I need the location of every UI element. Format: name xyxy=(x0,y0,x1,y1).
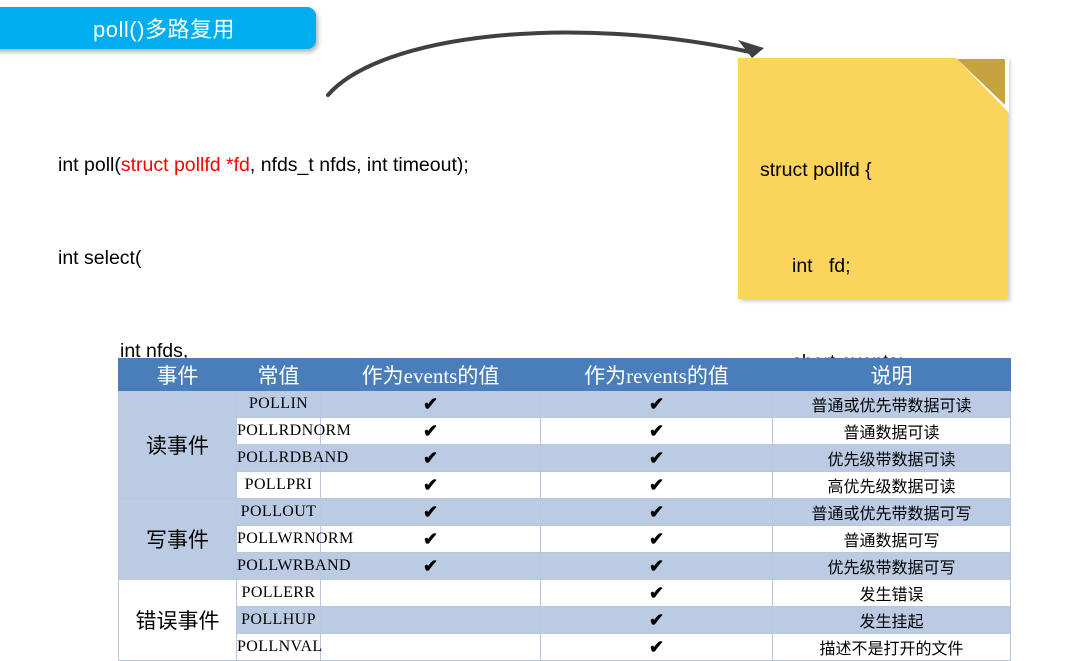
column-header-revents-value: 作为revents的值 xyxy=(541,359,773,391)
constant-cell: POLLNVAL xyxy=(237,634,321,661)
constant-cell: POLLRDBAND xyxy=(237,445,321,472)
constant-cell: POLLWRBAND xyxy=(237,553,321,580)
table-header-row: 事件 常值 作为events的值 作为revents的值 说明 xyxy=(119,359,1011,391)
revents-check-cell: ✔ xyxy=(541,445,773,472)
code-seg: int poll( xyxy=(58,154,121,176)
check-icon: ✔ xyxy=(649,610,664,630)
revents-check-cell: ✔ xyxy=(541,391,773,418)
table-row: POLLPRI ✔ ✔ 高优先级数据可读 xyxy=(119,472,1011,499)
revents-check-cell: ✔ xyxy=(541,499,773,526)
poll-events-table: 事件 常值 作为events的值 作为revents的值 说明 读事件 POLL… xyxy=(118,358,1011,661)
events-check-cell: ✔ xyxy=(321,553,541,580)
constant-cell: POLLOUT xyxy=(237,499,321,526)
check-icon: ✔ xyxy=(423,448,438,468)
folded-corner-icon xyxy=(949,57,1009,113)
page-title: poll()多路复用 xyxy=(67,12,235,44)
description-cell: 描述不是打开的文件 xyxy=(773,634,1011,661)
table-row: 错误事件 POLLERR ✔ 发生错误 xyxy=(119,580,1011,607)
events-check-cell: ✔ xyxy=(321,472,541,499)
table-row: 读事件 POLLIN ✔ ✔ 普通或优先带数据可读 xyxy=(119,391,1011,418)
check-icon: ✔ xyxy=(649,421,664,441)
revents-check-cell: ✔ xyxy=(541,526,773,553)
check-icon: ✔ xyxy=(423,529,438,549)
column-header-constant: 常值 xyxy=(237,359,321,391)
check-icon: ✔ xyxy=(649,556,664,576)
note-line-1: int fd; xyxy=(760,250,910,282)
category-cell-error: 错误事件 xyxy=(119,580,237,661)
check-icon: ✔ xyxy=(649,394,664,414)
table-row: POLLRDBAND ✔ ✔ 优先级带数据可读 xyxy=(119,445,1011,472)
events-check-cell: ✔ xyxy=(321,499,541,526)
slide-title-banner: poll()多路复用 xyxy=(0,7,316,49)
table-row: POLLHUP ✔ 发生挂起 xyxy=(119,607,1011,634)
check-icon: ✔ xyxy=(649,502,664,522)
description-cell: 普通或优先带数据可读 xyxy=(773,391,1011,418)
constant-cell: POLLPRI xyxy=(237,472,321,499)
events-check-cell xyxy=(321,607,541,634)
description-cell: 优先级带数据可写 xyxy=(773,553,1011,580)
events-check-cell xyxy=(321,634,541,661)
description-cell: 普通数据可读 xyxy=(773,418,1011,445)
check-icon: ✔ xyxy=(649,475,664,495)
column-header-events-value: 作为events的值 xyxy=(321,359,541,391)
code-line-0: int poll(struct pollfd *fd, nfds_t nfds,… xyxy=(58,150,738,181)
table-row: POLLWRBAND ✔ ✔ 优先级带数据可写 xyxy=(119,553,1011,580)
code-seg: int select( xyxy=(58,247,141,269)
sticky-note: struct pollfd { int fd; short events; sh… xyxy=(738,58,1008,299)
check-icon: ✔ xyxy=(649,448,664,468)
events-check-cell: ✔ xyxy=(321,445,541,472)
constant-cell: POLLIN xyxy=(237,391,321,418)
revents-check-cell: ✔ xyxy=(541,634,773,661)
check-icon: ✔ xyxy=(423,556,438,576)
table-row: POLLNVAL ✔ 描述不是打开的文件 xyxy=(119,634,1011,661)
code-seg-highlight: struct pollfd *fd xyxy=(121,154,250,176)
constant-cell: POLLRDNORM xyxy=(237,418,321,445)
check-icon: ✔ xyxy=(649,583,664,603)
check-icon: ✔ xyxy=(649,529,664,549)
description-cell: 普通数据可写 xyxy=(773,526,1011,553)
events-check-cell: ✔ xyxy=(321,391,541,418)
constant-cell: POLLWRNORM xyxy=(237,526,321,553)
constant-cell: POLLERR xyxy=(237,580,321,607)
check-icon: ✔ xyxy=(423,475,438,495)
table-row: POLLRDNORM ✔ ✔ 普通数据可读 xyxy=(119,418,1011,445)
check-icon: ✔ xyxy=(649,637,664,657)
check-icon: ✔ xyxy=(423,502,438,522)
revents-check-cell: ✔ xyxy=(541,553,773,580)
check-icon: ✔ xyxy=(423,421,438,441)
revents-check-cell: ✔ xyxy=(541,418,773,445)
slide-canvas: poll()多路复用 int poll(struct pollfd *fd, n… xyxy=(0,0,1086,661)
category-cell-write: 写事件 xyxy=(119,499,237,580)
code-line-1: int select( xyxy=(58,243,738,274)
description-cell: 优先级带数据可读 xyxy=(773,445,1011,472)
events-check-cell: ✔ xyxy=(321,418,541,445)
check-icon: ✔ xyxy=(423,394,438,414)
category-cell-read: 读事件 xyxy=(119,391,237,499)
description-cell: 发生错误 xyxy=(773,580,1011,607)
events-check-cell xyxy=(321,580,541,607)
column-header-description: 说明 xyxy=(773,359,1011,391)
revents-check-cell: ✔ xyxy=(541,607,773,634)
constant-cell: POLLHUP xyxy=(237,607,321,634)
note-line-0: struct pollfd { xyxy=(760,154,910,186)
revents-check-cell: ✔ xyxy=(541,472,773,499)
column-header-event: 事件 xyxy=(119,359,237,391)
code-seg: , nfds_t nfds, int timeout); xyxy=(250,154,469,176)
description-cell: 普通或优先带数据可写 xyxy=(773,499,1011,526)
table-row: POLLWRNORM ✔ ✔ 普通数据可写 xyxy=(119,526,1011,553)
description-cell: 高优先级数据可读 xyxy=(773,472,1011,499)
revents-check-cell: ✔ xyxy=(541,580,773,607)
description-cell: 发生挂起 xyxy=(773,607,1011,634)
table-row: 写事件 POLLOUT ✔ ✔ 普通或优先带数据可写 xyxy=(119,499,1011,526)
table-body: 读事件 POLLIN ✔ ✔ 普通或优先带数据可读 POLLRDNORM ✔ ✔… xyxy=(119,391,1011,661)
